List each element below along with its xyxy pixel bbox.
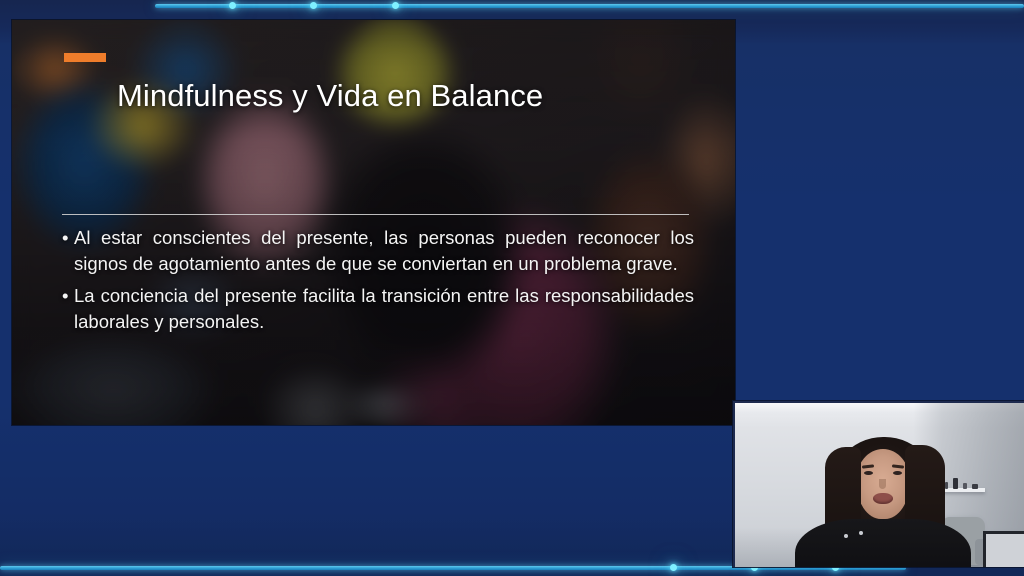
slide-bullet-item: • Al estar conscientes del presente, las… <box>62 225 694 276</box>
webcam-person-eye-right <box>893 471 902 475</box>
webcam-person-eye-left <box>864 471 873 475</box>
top-rail-dot-3 <box>392 2 399 9</box>
slide-bullet-item: • La conciencia del presente facilita la… <box>62 283 694 334</box>
bottom-rail-dot-1 <box>670 564 677 571</box>
shared-slide[interactable]: Mindfulness y Vida en Balance • Al estar… <box>12 20 735 425</box>
webcam-person-nose <box>879 479 886 489</box>
slide-divider <box>62 214 689 215</box>
webcam-person-torso <box>795 519 971 567</box>
webcam-picture-frame <box>983 531 1024 567</box>
slide-bullet-list: • Al estar conscientes del presente, las… <box>62 225 694 341</box>
presenter-webcam-tile[interactable] <box>733 401 1024 567</box>
bullet-text: Al estar conscientes del presente, las p… <box>74 225 694 276</box>
top-rail-dot-2 <box>310 2 317 9</box>
slide-title: Mindfulness y Vida en Balance <box>117 78 543 114</box>
bullet-marker-icon: • <box>62 225 74 276</box>
bullet-marker-icon: • <box>62 283 74 334</box>
screen-share-stage: Mindfulness y Vida en Balance • Al estar… <box>0 0 1024 576</box>
webcam-person-mouth <box>873 493 893 504</box>
webcam-garment-stud <box>844 534 848 538</box>
slide-content: Mindfulness y Vida en Balance • Al estar… <box>12 20 735 425</box>
top-progress-rail <box>155 4 1024 8</box>
slide-accent-bar <box>64 53 106 62</box>
bullet-text: La conciencia del presente facilita la t… <box>74 283 694 334</box>
webcam-garment-stud <box>859 531 863 535</box>
top-rail-dot-1 <box>229 2 236 9</box>
